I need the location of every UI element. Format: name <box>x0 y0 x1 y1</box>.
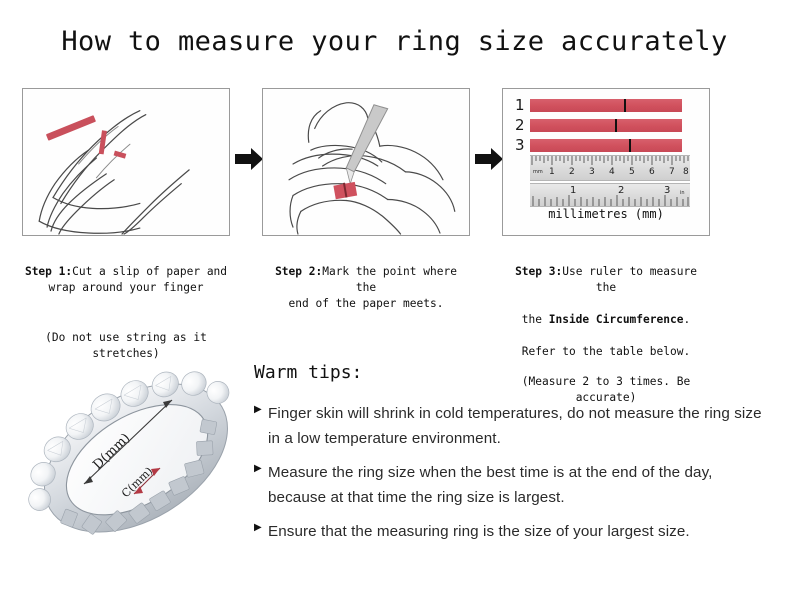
right-arrow-icon <box>474 146 504 172</box>
ruler: mm 1 2 3 4 5 6 7 8 1 2 3 in <box>530 155 690 207</box>
strip-number: 1 <box>515 98 530 113</box>
warm-tips-heading: Warm tips: <box>254 362 774 383</box>
step-3-text-bold: Inside Circumference <box>549 313 684 326</box>
right-arrow-icon <box>234 146 264 172</box>
step-3-label: Step 3: <box>515 265 562 278</box>
measured-strips: 1 2 3 <box>515 98 682 158</box>
warm-tips-section: Warm tips: ▶ Finger skin will shrink in … <box>254 362 774 553</box>
ruler-cm-tick: 2 <box>569 167 575 177</box>
triangle-bullet-icon: ▶ <box>254 519 268 533</box>
strip-mark <box>629 139 631 152</box>
ruler-cm-tick: 7 <box>669 167 675 177</box>
strip-number: 3 <box>515 138 530 153</box>
triangle-bullet-icon: ▶ <box>254 401 268 415</box>
strip-number: 2 <box>515 118 530 133</box>
ring-diagram: D(mm) C(mm) <box>22 352 250 564</box>
ruler-cm-tick: 3 <box>589 167 595 177</box>
step-3-column: 1 2 3 <box>502 88 710 406</box>
ruler-cm-tick: 1 <box>549 167 555 177</box>
warm-tip-item: ▶ Finger skin will shrink in cold temper… <box>254 401 774 451</box>
ruler-inch-ticks <box>530 184 690 208</box>
strip-row: 3 <box>515 138 682 153</box>
step-2-column: Step 2:Mark the point where the end of t… <box>262 88 470 312</box>
ruler-cm-tick: 5 <box>629 167 635 177</box>
ruler-unit-caption: millimetres (mm) <box>503 207 709 221</box>
triangle-bullet-icon: ▶ <box>254 460 268 474</box>
strip-row: 2 <box>515 118 682 133</box>
strip-bar <box>530 139 682 152</box>
strip-bar <box>530 99 682 112</box>
step-3-text-line1: Use ruler to measure the <box>562 265 697 294</box>
strip-row: 1 <box>515 98 682 113</box>
warm-tip-text: Ensure that the measuring ring is the si… <box>268 519 690 544</box>
ruler-metric-label: mm <box>533 169 543 175</box>
step-2-panel <box>262 88 470 236</box>
ruler-cm-tick: 6 <box>649 167 655 177</box>
step-1-text: Cut a slip of paper and wrap around your… <box>49 265 228 294</box>
strip-mark <box>615 119 617 132</box>
step-1-column: Step 1:Cut a slip of paper and wrap arou… <box>22 88 230 362</box>
ruler-cm-tick: 4 <box>609 167 615 177</box>
step-3-panel: 1 2 3 <box>502 88 710 236</box>
ruler-cm-tick: 8 <box>683 167 689 177</box>
arrow-separator-1 <box>234 146 264 172</box>
page-title: How to measure your ring size accurately <box>0 26 789 57</box>
strip-mark <box>624 99 626 112</box>
step-1-label: Step 1: <box>25 265 72 278</box>
step-1-panel <box>22 88 230 236</box>
warm-tip-text: Measure the ring size when the best time… <box>268 460 774 510</box>
hand-with-paper-strip-sketch <box>23 89 229 235</box>
hand-marking-paper-with-pen-sketch <box>263 89 469 235</box>
strip-bar <box>530 119 682 132</box>
step-3-caption: Step 3:Use ruler to measure the the Insi… <box>502 248 710 360</box>
ruler-inch-scale: 1 2 3 in <box>530 183 690 207</box>
step-3-text-post-bold: . <box>683 313 690 326</box>
step-1-caption: Step 1:Cut a slip of paper and wrap arou… <box>22 248 230 296</box>
arrow-separator-2 <box>474 146 504 172</box>
warm-tip-item: ▶ Measure the ring size when the best ti… <box>254 460 774 510</box>
steps-row: Step 1:Cut a slip of paper and wrap arou… <box>0 88 789 338</box>
ruler-metric-scale: mm 1 2 3 4 5 6 7 8 <box>530 155 690 181</box>
step-2-caption: Step 2:Mark the point where the end of t… <box>262 248 470 312</box>
step-3-text-pre-bold: the <box>522 313 549 326</box>
step-2-label: Step 2: <box>275 265 322 278</box>
warm-tip-item: ▶ Ensure that the measuring ring is the … <box>254 519 774 544</box>
warm-tip-text: Finger skin will shrink in cold temperat… <box>268 401 774 451</box>
eternity-ring-photo: D(mm) C(mm) <box>22 352 250 564</box>
step-3-text-line3: Refer to the table below. <box>522 345 690 358</box>
